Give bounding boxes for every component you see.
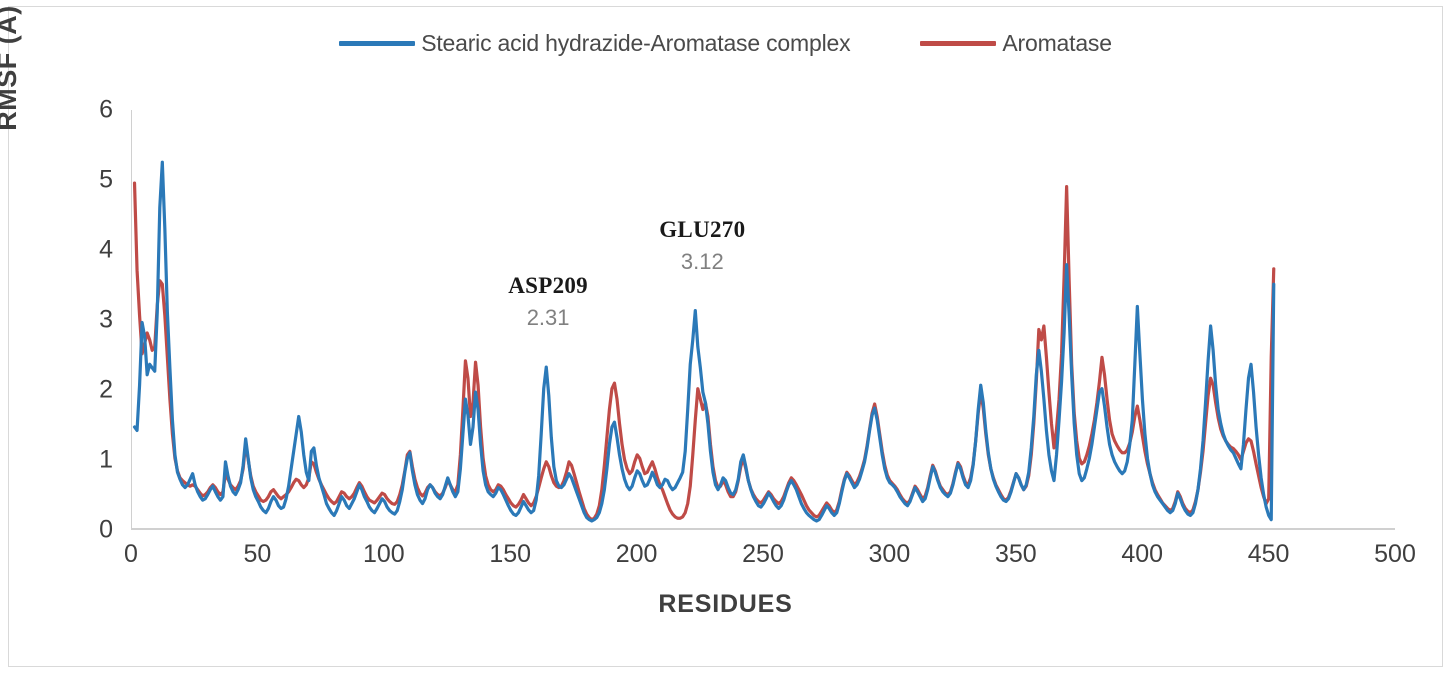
x-tick-250: 250: [742, 540, 784, 569]
rmsf-figure: Stearic acid hydrazide-Aromatase complex…: [0, 0, 1451, 675]
x-tick-200: 200: [616, 540, 658, 569]
legend-label-complex: Stearic acid hydrazide-Aromatase complex: [421, 30, 850, 57]
plot-area: [131, 110, 1395, 530]
y-tick-1: 1: [99, 446, 113, 475]
y-tick-6: 6: [99, 96, 113, 125]
annotation-asp209: ASP209 2.31: [508, 273, 588, 331]
annotation-glu270-name: GLU270: [659, 217, 745, 243]
x-tick-500: 500: [1374, 540, 1416, 569]
y-tick-5: 5: [99, 166, 113, 195]
annotation-asp209-value: 2.31: [508, 305, 588, 331]
x-tick-0: 0: [124, 540, 138, 569]
annotation-glu270-value: 3.12: [659, 249, 745, 275]
y-tick-2: 2: [99, 376, 113, 405]
y-axis-title: RMSF (Å): [0, 0, 23, 198]
x-tick-450: 450: [1248, 540, 1290, 569]
y-tick-4: 4: [99, 236, 113, 265]
legend-item-complex: Stearic acid hydrazide-Aromatase complex: [339, 30, 850, 57]
annotation-glu270: GLU270 3.12: [659, 217, 745, 275]
legend-label-aromatase: Aromatase: [1002, 30, 1111, 57]
x-tick-350: 350: [995, 540, 1037, 569]
legend-item-aromatase: Aromatase: [920, 30, 1111, 57]
x-tick-50: 50: [243, 540, 271, 569]
legend-swatch-aromatase: [920, 41, 996, 46]
series-canvas: [132, 110, 1395, 528]
x-axis-ticks: 050100150200250300350400450500: [0, 540, 1451, 580]
x-axis-title: RESIDUES: [0, 590, 1451, 619]
x-tick-300: 300: [869, 540, 911, 569]
x-tick-400: 400: [1121, 540, 1163, 569]
chart-legend: Stearic acid hydrazide-Aromatase complex…: [0, 30, 1451, 57]
y-tick-3: 3: [99, 306, 113, 335]
x-tick-100: 100: [363, 540, 405, 569]
annotation-asp209-name: ASP209: [508, 273, 588, 299]
x-tick-150: 150: [489, 540, 531, 569]
legend-swatch-complex: [339, 41, 415, 46]
